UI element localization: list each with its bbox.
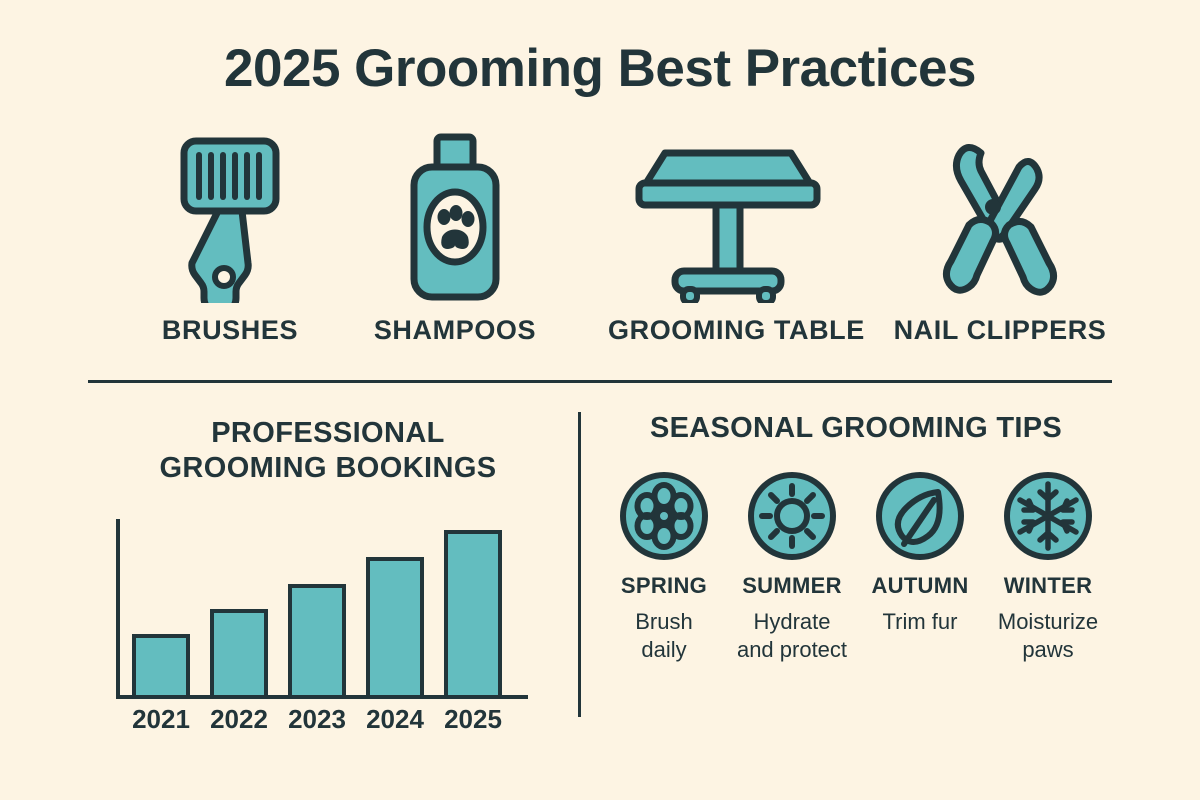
x-axis-labels: 2021 2022 2023 2024 2025: [88, 704, 568, 744]
bar-chart-plot: [88, 504, 568, 699]
tool-label: SHAMPOOS: [335, 315, 575, 346]
bar-2022: [210, 609, 268, 695]
leaf-icon: [856, 470, 984, 562]
infographic-page: 2025 Grooming Best Practices BRU: [0, 0, 1200, 800]
seasons-grid: SPRING Brushdaily: [600, 470, 1112, 663]
flower-icon: [600, 470, 728, 562]
x-tick-label: 2021: [116, 704, 206, 735]
bookings-chart-panel: PROFESSIONAL GROOMING BOOKINGS 2021 2022…: [88, 412, 568, 742]
bar-2024: [366, 557, 424, 695]
seasons-title: SEASONAL GROOMING TIPS: [600, 412, 1112, 445]
vertical-divider: [578, 412, 581, 717]
season-tip: Brushdaily: [600, 608, 728, 663]
seasonal-tips-panel: SEASONAL GROOMING TIPS: [600, 412, 1112, 445]
season-tip: Moisturizepaws: [984, 608, 1112, 663]
y-axis: [116, 519, 120, 699]
season-tip: Trim fur: [856, 608, 984, 636]
chart-title-line-1: PROFESSIONAL: [88, 416, 568, 451]
tool-label: NAIL CLIPPERS: [880, 315, 1120, 346]
x-tick-label: 2025: [428, 704, 518, 735]
x-tick-label: 2024: [350, 704, 440, 735]
chart-title: PROFESSIONAL GROOMING BOOKINGS: [88, 412, 568, 487]
bar-2021: [132, 634, 190, 695]
tool-item-shampoos: SHAMPOOS: [335, 128, 575, 346]
tool-label: BRUSHES: [110, 315, 350, 346]
bar-2025: [444, 530, 502, 695]
season-item-spring: SPRING Brushdaily: [600, 470, 728, 663]
brush-icon: [110, 128, 350, 303]
season-name: SPRING: [600, 573, 728, 599]
season-tip: Hydrateand protect: [728, 608, 856, 663]
horizontal-divider: [88, 380, 1112, 383]
x-tick-label: 2023: [272, 704, 362, 735]
shampoo-bottle-icon: [335, 128, 575, 303]
season-name: SUMMER: [728, 573, 856, 599]
season-item-autumn: AUTUMN Trim fur: [856, 470, 984, 663]
nail-clippers-icon: [880, 128, 1120, 303]
chart-title-line-2: GROOMING BOOKINGS: [88, 451, 568, 486]
tool-item-grooming-table: GROOMING TABLE: [608, 128, 848, 346]
snowflake-icon: [984, 470, 1112, 562]
season-name: WINTER: [984, 573, 1112, 599]
tool-label: GROOMING TABLE: [608, 315, 848, 346]
sun-icon: [728, 470, 856, 562]
tool-item-nail-clippers: NAIL CLIPPERS: [880, 128, 1120, 346]
x-tick-label: 2022: [194, 704, 284, 735]
grooming-table-icon: [608, 128, 848, 303]
season-item-summer: SUMMER Hydrateand protect: [728, 470, 856, 663]
season-name: AUTUMN: [856, 573, 984, 599]
x-axis: [116, 695, 528, 699]
bar-2023: [288, 584, 346, 695]
page-title: 2025 Grooming Best Practices: [0, 38, 1200, 99]
tool-item-brushes: BRUSHES: [110, 128, 350, 346]
season-item-winter: WINTER Moisturizepaws: [984, 470, 1112, 663]
